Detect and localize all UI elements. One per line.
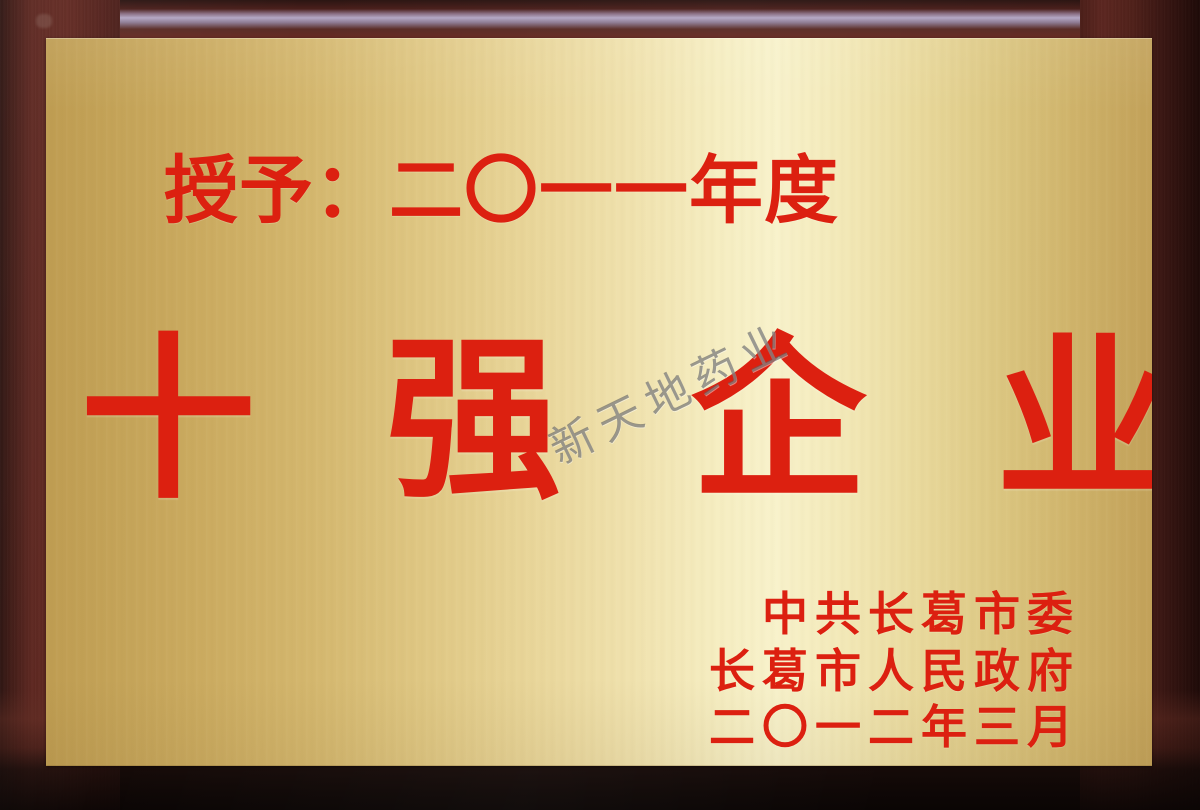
award-title: 十 强 企 业 [46, 332, 1152, 508]
award-plaque: 授予：二〇一一年度 十 强 企 业 中共长葛市委 长葛市人民政府 二〇一二年三月… [0, 0, 1200, 810]
issuer-line-date: 二〇一二年三月 [709, 699, 1080, 756]
issuer-line-party-committee: 中共长葛市委 [709, 586, 1080, 643]
frame-surface-mark [36, 14, 52, 28]
issuer-line-municipal-government: 长葛市人民政府 [709, 643, 1080, 700]
award-year-line: 授予：二〇一一年度 [164, 154, 839, 228]
issuer-signature-block: 中共长葛市委 长葛市人民政府 二〇一二年三月 [709, 586, 1080, 756]
gold-plate: 授予：二〇一一年度 十 强 企 业 中共长葛市委 长葛市人民政府 二〇一二年三月… [46, 38, 1152, 766]
